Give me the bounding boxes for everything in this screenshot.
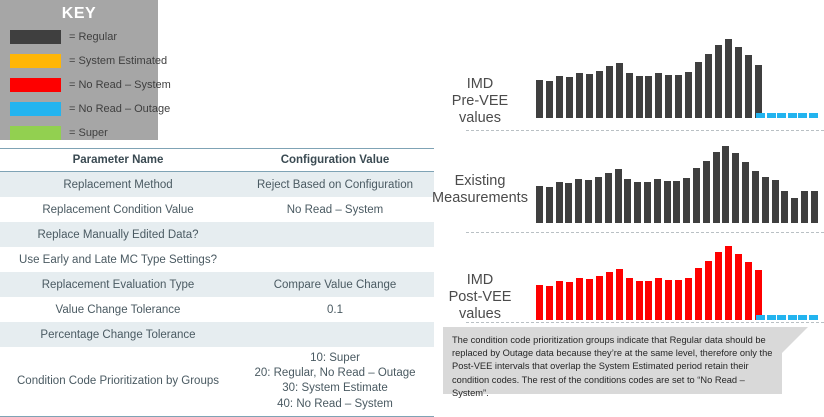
table-row: Use Early and Late MC Type Settings? (0, 247, 434, 272)
bar (755, 65, 762, 118)
bar (781, 191, 788, 223)
bar (586, 74, 593, 118)
callout-box: The condition code prioritization groups… (443, 327, 782, 394)
bar (725, 39, 732, 118)
key-label-no-read-outage: = No Read – Outage (69, 103, 170, 115)
bar (556, 182, 563, 223)
swatch-regular-icon (10, 30, 61, 44)
column-header-parameter-name: Parameter Name (0, 149, 236, 172)
cell-value-line: 30: System Estimate (242, 381, 428, 396)
swatch-no-read-outage-icon (10, 102, 61, 116)
outage-dash-markers-pre-vee (756, 113, 818, 118)
bar (715, 252, 722, 320)
bar (732, 153, 739, 223)
key-label-no-read-system: = No Read – System (69, 79, 171, 91)
bar (655, 278, 662, 320)
bar (556, 281, 563, 320)
bar (745, 262, 752, 320)
bar (655, 73, 662, 118)
chart-label-line: Post-VEE values (430, 289, 530, 323)
bar (605, 173, 612, 223)
outage-dash-marker (767, 315, 776, 320)
bar-group-imd-post-vee (536, 240, 762, 320)
outage-dash-marker (767, 113, 776, 118)
bar (791, 198, 798, 223)
bar (636, 76, 643, 118)
bar (673, 181, 680, 223)
cell-configuration-value: No Read – System (236, 197, 434, 222)
table-row: Percentage Change Tolerance (0, 322, 434, 347)
chart-label-existing-measurements: ExistingMeasurements (430, 173, 530, 207)
bar (644, 182, 651, 223)
outage-dash-marker (809, 315, 818, 320)
bar (576, 73, 583, 118)
cell-parameter-name: Replacement Evaluation Type (0, 272, 236, 297)
bar (755, 270, 762, 320)
cell-value-line: 40: No Read – System (242, 397, 428, 412)
bar (685, 72, 692, 118)
bar (675, 75, 682, 118)
bar (536, 285, 543, 320)
key-row-no-read-system: = No Read – System (0, 75, 158, 95)
bar (634, 182, 641, 223)
column-header-configuration-value: Configuration Value (236, 149, 434, 172)
bar-group-existing-measurements (536, 139, 818, 223)
key-label-regular: = Regular (69, 31, 117, 43)
bar (565, 183, 572, 223)
bar (616, 63, 623, 118)
table-row: Replacement Evaluation TypeCompare Value… (0, 272, 434, 297)
outage-dash-marker (756, 315, 765, 320)
bar (705, 54, 712, 118)
key-label-super: = Super (69, 127, 108, 139)
bar (665, 280, 672, 320)
bar (725, 246, 732, 320)
cell-configuration-value: Reject Based on Configuration (236, 172, 434, 198)
bar (645, 281, 652, 320)
table-row: Replacement MethodReject Based on Config… (0, 172, 434, 198)
bar (654, 179, 661, 223)
bar (801, 191, 808, 223)
bar (636, 281, 643, 320)
bar (606, 272, 613, 320)
table-body: Replacement MethodReject Based on Config… (0, 172, 434, 417)
outage-dash-marker (788, 315, 797, 320)
key-row-super: = Super (0, 123, 158, 143)
key-legend-box: KEY = Regular = System Estimated = No Re… (0, 0, 158, 140)
table-row: Replace Manually Edited Data? (0, 222, 434, 247)
bar (626, 278, 633, 320)
outage-dash-marker (798, 113, 807, 118)
bar (752, 171, 759, 223)
bar (566, 282, 573, 320)
bar (585, 180, 592, 223)
bar (596, 71, 603, 118)
key-row-regular: = Regular (0, 27, 158, 47)
chart-label-line: IMD (430, 272, 530, 289)
table-row: Replacement Condition ValueNo Read – Sys… (0, 197, 434, 222)
bar (595, 177, 602, 223)
bar (683, 178, 690, 223)
outage-dash-marker (798, 315, 807, 320)
bar (735, 47, 742, 118)
bar (546, 81, 553, 118)
chart-label-line: IMD (430, 76, 530, 93)
callout-pointer-tail (782, 327, 808, 353)
table-header-row: Parameter Name Configuration Value (0, 149, 434, 172)
cell-configuration-value (236, 247, 434, 272)
bar (722, 146, 729, 223)
bar (616, 269, 623, 320)
cell-parameter-name: Replace Manually Edited Data? (0, 222, 236, 247)
swatch-super-icon (10, 126, 61, 140)
cell-configuration-value: Compare Value Change (236, 272, 434, 297)
chart-label-line: Measurements (430, 190, 530, 207)
key-row-no-read-outage: = No Read – Outage (0, 99, 158, 119)
outage-dash-marker (809, 113, 818, 118)
divider-dash-line-1 (466, 130, 824, 131)
divider-dash-line-2 (466, 232, 824, 233)
chart-label-line: Pre-VEE values (430, 93, 530, 127)
cell-parameter-name: Value Change Tolerance (0, 297, 236, 322)
bar (536, 80, 543, 118)
cell-configuration-value (236, 322, 434, 347)
bar (665, 75, 672, 118)
key-row-system-estimated: = System Estimated (0, 51, 158, 71)
cell-configuration-value (236, 222, 434, 247)
bar (703, 161, 710, 223)
chart-label-line: Existing (430, 173, 530, 190)
callout-text: The condition code prioritization groups… (443, 327, 782, 400)
bar (536, 186, 543, 223)
cell-parameter-name: Replacement Condition Value (0, 197, 236, 222)
divider-dash-line-3 (466, 322, 824, 323)
bar (811, 191, 818, 223)
configuration-parameters-table: Parameter Name Configuration Value Repla… (0, 148, 434, 417)
bar (596, 276, 603, 320)
bar (772, 180, 779, 223)
bar (664, 181, 671, 223)
bar (615, 169, 622, 223)
swatch-system-estimated-icon (10, 54, 61, 68)
bar (566, 77, 573, 118)
bar (586, 279, 593, 320)
outage-dash-markers-post-vee (756, 315, 818, 320)
bar (675, 280, 682, 320)
bar (624, 179, 631, 223)
bar (713, 152, 720, 223)
bar (745, 55, 752, 118)
bar (645, 76, 652, 118)
chart-existing-measurements: ExistingMeasurements (430, 133, 824, 233)
bar (576, 278, 583, 320)
bar (556, 76, 563, 118)
chart-imd-pre-vee: IMDPre-VEE values (430, 22, 824, 130)
bar (705, 261, 712, 320)
outage-dash-marker (756, 113, 765, 118)
bar (626, 73, 633, 118)
chart-label-imd-pre-vee: IMDPre-VEE values (430, 76, 530, 127)
cell-parameter-name: Replacement Method (0, 172, 236, 198)
bar (606, 66, 613, 118)
bar (735, 254, 742, 320)
outage-dash-marker (777, 113, 786, 118)
bar (742, 162, 749, 223)
bar (693, 168, 700, 223)
key-title: KEY (0, 0, 158, 23)
bar (762, 177, 769, 223)
bar (695, 62, 702, 118)
bar (546, 286, 553, 320)
chart-imd-post-vee: IMDPost-VEE values (430, 236, 824, 332)
bar (695, 268, 702, 320)
key-label-system-estimated: = System Estimated (69, 55, 167, 67)
outage-dash-marker (777, 315, 786, 320)
cell-parameter-name: Percentage Change Tolerance (0, 322, 236, 347)
bar (546, 187, 553, 223)
swatch-no-read-system-icon (10, 78, 61, 92)
cell-parameter-name: Use Early and Late MC Type Settings? (0, 247, 236, 272)
outage-dash-marker (788, 113, 797, 118)
bar-group-imd-pre-vee (536, 32, 762, 118)
cell-value-line: 10: Super (242, 351, 428, 366)
bar (685, 278, 692, 320)
table-row: Value Change Tolerance0.1 (0, 297, 434, 322)
chart-label-imd-post-vee: IMDPost-VEE values (430, 272, 530, 323)
cell-value-line: 20: Regular, No Read – Outage (242, 366, 428, 381)
cell-configuration-value: 0.1 (236, 297, 434, 322)
bar (715, 45, 722, 118)
bar (575, 179, 582, 223)
